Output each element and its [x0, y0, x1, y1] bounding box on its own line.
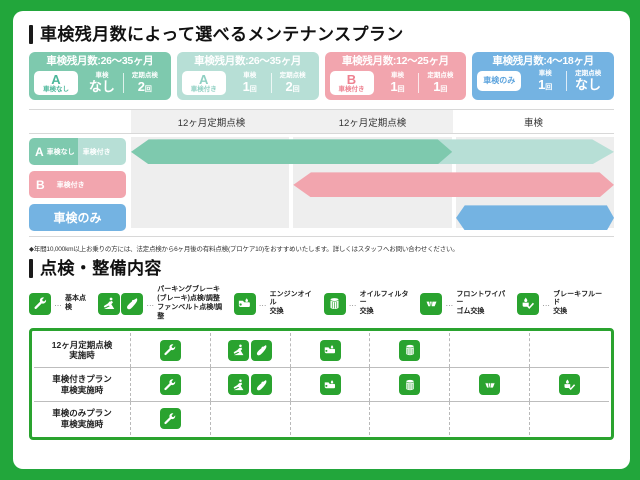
legend-label: エンジンオイル 交換	[270, 291, 318, 317]
plan-stat-teiki: 定期点検 2回	[271, 73, 314, 93]
matrix-cell-engine-oil-empty	[290, 402, 370, 435]
matrix-cell-basic	[130, 368, 210, 401]
legend-separator: …	[259, 299, 267, 308]
plan-stat-value: 1回	[419, 80, 461, 94]
wiper-rubber-icon	[420, 293, 442, 315]
timeline-row-sublabel: 車検のみ	[53, 209, 101, 226]
heading-accent-bar	[29, 259, 33, 278]
table-row: 12ヶ月定期点検 実施時	[34, 333, 609, 367]
plan-stat-teiki: 定期点検 1回	[418, 73, 461, 93]
timeline-row-b: B 車検付き	[29, 170, 614, 199]
plan-badge: B 車検付き	[330, 71, 374, 96]
timeline-row-label-b: B 車検付き	[29, 171, 126, 198]
legend-label: フロントワイパー ゴム交換	[456, 291, 511, 317]
matrix-cell-wiper-empty	[449, 333, 529, 367]
timeline-bar-c	[456, 205, 614, 230]
legend-separator: …	[54, 299, 62, 308]
legend-item-engine-oil: … エンジンオイル 交換	[234, 291, 318, 317]
timeline-body: A 車検なし 車検付き	[29, 134, 614, 232]
timeline-row-sublabel: 車検なし	[47, 147, 75, 157]
matrix-cell-brake-belt	[210, 368, 290, 401]
heading-accent-bar	[29, 25, 33, 44]
engine-oil-icon	[320, 374, 341, 395]
section-heading-inspection: 点検・整備内容	[29, 259, 614, 278]
timeline-row-letter: B	[36, 178, 45, 192]
plan-stat-teiki: 定期点検 2回	[123, 73, 166, 93]
plan-note: ◆年間10,000km以上お乗りの方には、法定点検から6ヶ月後の有料点検(プロケ…	[29, 243, 614, 253]
plan-badge-sublabel: 車検なし	[38, 86, 74, 93]
plan-stat-shaken: 車検 1回	[524, 71, 566, 91]
oil-filter-icon	[399, 374, 420, 395]
matrix-cell-fluid-empty	[529, 333, 609, 367]
fan-belt-icon	[251, 340, 272, 361]
timeline-row-label-a: A 車検なし 車検付き	[29, 138, 126, 165]
plan-stat-value: 2回	[272, 80, 314, 94]
matrix-cell-brake-fluid	[529, 368, 609, 401]
matrix-row-label: 車検のみプラン 車検実施時	[34, 402, 130, 435]
matrix-row-label: 車検付きプラン 車検実施時	[34, 368, 130, 401]
legend-label: ブレーキフルード 交換	[553, 291, 608, 317]
matrix-cell-basic	[130, 333, 210, 367]
timeline-bar-a-dark	[131, 139, 452, 164]
legend-item-basic-inspection: … 基本点検	[29, 293, 92, 315]
section-heading-plans: 車検残月数によって選べるメンテナンスプラン	[29, 25, 614, 44]
plan-card-b[interactable]: 車検残月数:12〜25ヶ月 B 車検付き 車検 1回 定期	[325, 52, 467, 100]
legend-label: 基本点検	[65, 295, 92, 313]
plan-stat-teiki: 定期点検 なし	[566, 71, 609, 91]
matrix-cell-brake-belt-empty	[210, 402, 290, 435]
plan-badge-letter: A	[186, 73, 222, 87]
section-title-inspection: 点検・整備内容	[40, 260, 162, 277]
timeline-bar-b	[293, 172, 614, 197]
matrix-cell-oil-filter-empty	[369, 402, 449, 435]
matrix-cell-fluid-empty	[529, 402, 609, 435]
timeline-track-a	[131, 137, 614, 166]
brake-fluid-icon	[559, 374, 580, 395]
matrix-row-label: 12ヶ月定期点検 実施時	[34, 333, 130, 367]
timeline-track-c	[131, 203, 614, 232]
wrench-icon	[29, 293, 51, 315]
plan-stat-value: なし	[81, 80, 123, 94]
legend-item-brake-fluid: … ブレーキフルード 交換	[517, 291, 608, 317]
plan-stat-value: 1回	[377, 80, 419, 94]
timeline-footer-rule	[29, 236, 614, 237]
plan-badge: A 車検付き	[182, 71, 226, 96]
plan-badge-letter: A	[38, 73, 74, 87]
inspection-matrix-table: 12ヶ月定期点検 実施時	[29, 328, 614, 440]
legend-label: パーキングブレーキ (ブレーキ)点検/調整 ファンベルト点検/調整	[157, 286, 227, 321]
fan-belt-icon	[251, 374, 272, 395]
wrench-icon	[160, 408, 181, 429]
timeline-row-sublabel-2: 車検付き	[83, 147, 111, 157]
parking-brake-icon	[228, 340, 249, 361]
plan-months-label: 車検残月数:26〜35ヶ月	[34, 56, 166, 68]
timeline-label-a-left: A 車検なし	[29, 138, 78, 165]
plan-stat-shaken: 車検 1回	[377, 73, 419, 93]
matrix-cell-wiper-empty	[449, 402, 529, 435]
plan-badge-letter: B	[334, 73, 370, 87]
oil-filter-icon	[399, 340, 420, 361]
plan-badge-sublabel: 車検付き	[334, 86, 370, 93]
plan-stat-value: 1回	[524, 78, 566, 92]
plan-stat-shaken: 車検 なし	[81, 73, 123, 93]
timeline-label-a-right: 車検付き	[78, 138, 126, 165]
timeline-header-spacer	[29, 110, 131, 133]
plan-card-list: 車検残月数:26〜35ヶ月 A 車検なし 車検 なし 定期	[29, 52, 614, 100]
plan-stat-value: 2回	[124, 80, 166, 94]
matrix-cell-oil-filter	[369, 333, 449, 367]
wrench-icon	[160, 374, 181, 395]
page-title: 車検残月数によって選べるメンテナンスプラン	[40, 26, 404, 43]
plan-badge-sublabel: 車検のみ	[481, 77, 517, 86]
timeline-row-label-c: 車検のみ	[29, 204, 126, 231]
oil-filter-icon	[324, 293, 346, 315]
timeline-row-c: 車検のみ	[29, 203, 614, 232]
plan-card-shaken-only[interactable]: 車検残月数:4〜18ヶ月 車検のみ 車検 1回 定期点検	[472, 52, 614, 100]
matrix-cell-brake-belt	[210, 333, 290, 367]
table-row: 車検のみプラン 車検実施時	[34, 401, 609, 435]
plan-months-label: 車検残月数:26〜35ヶ月	[182, 56, 314, 68]
wiper-rubber-icon	[479, 374, 500, 395]
engine-oil-icon	[234, 293, 256, 315]
brake-fluid-icon	[517, 293, 539, 315]
legend-separator: …	[349, 299, 357, 308]
fan-belt-icon	[121, 293, 143, 315]
parking-brake-icon	[228, 374, 249, 395]
legend-separator: …	[146, 299, 154, 308]
timeline-header-row: 12ヶ月定期点検 12ヶ月定期点検 車検	[29, 109, 614, 134]
plan-timeline: 12ヶ月定期点検 12ヶ月定期点検 車検 A 車検なし	[29, 109, 614, 237]
plan-badge-sublabel: 車検付き	[186, 86, 222, 93]
matrix-cell-basic	[130, 402, 210, 435]
table-row: 車検付きプラン 車検実施時	[34, 367, 609, 401]
page-root: 車検残月数によって選べるメンテナンスプラン 車検残月数:26〜35ヶ月 A 車検…	[0, 0, 640, 480]
legend-item-wiper-rubber: … フロントワイパー ゴム交換	[420, 291, 511, 317]
timeline-header-col-1: 12ヶ月定期点検	[131, 110, 292, 133]
plan-badge: A 車検なし	[34, 71, 78, 96]
plan-months-label: 車検残月数:12〜25ヶ月	[330, 56, 462, 68]
legend-item-brake-and-belt: … パーキングブレーキ (ブレーキ)点検/調整 ファンベルト点検/調整	[98, 286, 227, 321]
plan-card-a-with-shaken[interactable]: 車検残月数:26〜35ヶ月 A 車検付き 車検 1回 定期	[177, 52, 319, 100]
timeline-row-letter: A	[35, 145, 44, 159]
wrench-icon	[160, 340, 181, 361]
matrix-cell-oil-filter	[369, 368, 449, 401]
matrix-cell-engine-oil	[290, 368, 370, 401]
plan-months-label: 車検残月数:4〜18ヶ月	[477, 56, 609, 68]
legend-item-oil-filter: … オイルフィルター 交換	[324, 291, 415, 317]
plan-stat-value: なし	[567, 78, 609, 92]
engine-oil-icon	[320, 340, 341, 361]
legend-separator: …	[542, 299, 550, 308]
matrix-cell-wiper	[449, 368, 529, 401]
plan-badge: 車検のみ	[477, 71, 521, 92]
plan-stat-value: 1回	[229, 80, 271, 94]
legend-separator: …	[445, 299, 453, 308]
matrix-cell-engine-oil	[290, 333, 370, 367]
plan-stat-shaken: 車検 1回	[229, 73, 271, 93]
timeline-row-sublabel: 車検付き	[57, 180, 85, 190]
timeline-track-b	[131, 170, 614, 199]
parking-brake-icon	[98, 293, 120, 315]
timeline-header-col-3: 車検	[453, 110, 614, 133]
content-card: 車検残月数によって選べるメンテナンスプラン 車検残月数:26〜35ヶ月 A 車検…	[13, 11, 630, 469]
timeline-row-a: A 車検なし 車検付き	[29, 137, 614, 166]
plan-card-a-no-shaken[interactable]: 車検残月数:26〜35ヶ月 A 車検なし 車検 なし 定期	[29, 52, 171, 100]
timeline-header-col-2: 12ヶ月定期点検	[292, 110, 453, 133]
legend-label: オイルフィルター 交換	[360, 291, 415, 317]
icon-legend: … 基本点検 … パーキングブレーキ (ブレーキ)点検/調整 ファンベルト点検/…	[29, 286, 614, 321]
